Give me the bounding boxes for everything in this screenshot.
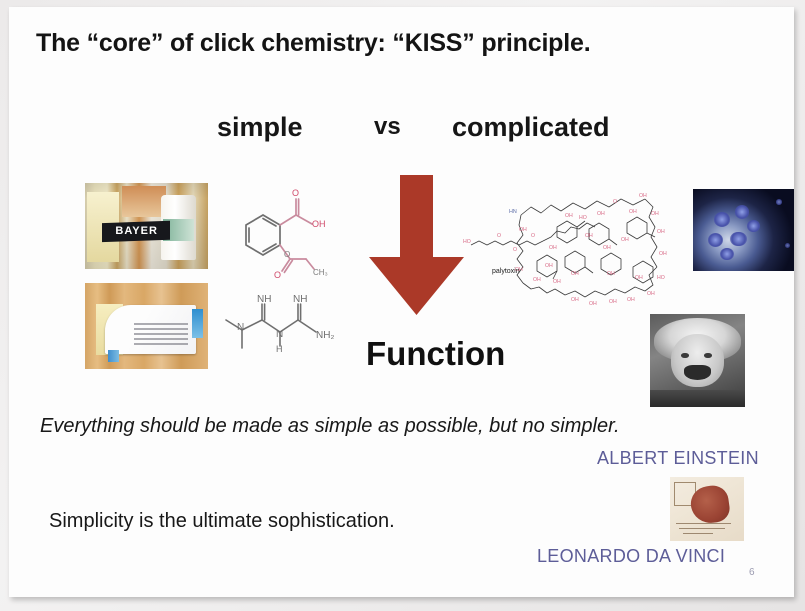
svg-text:HO: HO (579, 215, 587, 221)
svg-text:OH: OH (549, 245, 557, 251)
down-arrow (364, 175, 469, 320)
metformin-atom-NH-1: NH (257, 294, 271, 305)
metformin-atom-N-2: N (276, 329, 283, 340)
column-heading-vs: vs (374, 113, 401, 141)
svg-text:OH: OH (589, 301, 597, 307)
einstein-portrait-photo (650, 314, 745, 407)
svg-text:OH: OH (553, 279, 561, 285)
palytoxin-label: palytoxin (492, 268, 520, 275)
cell-nucleus (708, 233, 724, 247)
svg-text:OH: OH (571, 271, 579, 277)
slide-title: The “core” of click chemistry: “KISS” pr… (36, 29, 590, 58)
svg-text:OH: OH (647, 291, 655, 297)
cell-nucleus (720, 248, 734, 260)
quote-davinci-attribution: LEONARDO DA VINCI (537, 546, 725, 567)
svg-text:O: O (497, 233, 501, 239)
function-label: Function (366, 335, 505, 373)
einstein-eye-right (704, 353, 712, 358)
davinci-sketch-photo (670, 477, 744, 541)
davinci-sketch-line (683, 533, 713, 534)
davinci-sketch-line (676, 523, 731, 524)
slide-canvas: The “core” of click chemistry: “KISS” pr… (9, 7, 794, 597)
svg-text:OH: OH (565, 213, 573, 219)
cell-nucleus (785, 243, 790, 248)
davinci-sketch-line (679, 528, 725, 529)
quote-einstein-attribution: ALBERT EINSTEIN (597, 448, 759, 469)
aspirin-packaging-photo: BAYER (85, 183, 208, 269)
svg-text:OH: OH (657, 229, 665, 235)
einstein-eye-left (681, 353, 689, 358)
cell-nucleus (714, 212, 731, 227)
aspirin-structure: O OH O O CH₃ (228, 179, 328, 283)
einstein-mouth (684, 365, 711, 380)
cell-nucleus (735, 205, 750, 218)
metformin-atom-H: H (276, 344, 283, 354)
metformin-packaging-photo (85, 283, 208, 369)
svg-text:OH: OH (545, 263, 553, 269)
slide-outer-frame: The “core” of click chemistry: “KISS” pr… (0, 0, 805, 611)
svg-text:OH: OH (651, 211, 659, 217)
svg-text:OH: OH (627, 297, 635, 303)
svg-text:HO: HO (463, 239, 471, 245)
metformin-atom-NH2: NH₂ (316, 330, 334, 341)
svg-text:O: O (513, 247, 517, 253)
svg-text:OH: OH (621, 237, 629, 243)
quote-einstein-text: Everything should be made as simple as p… (40, 415, 620, 438)
svg-text:O: O (613, 199, 617, 205)
svg-text:OH: OH (635, 275, 643, 281)
metformin-structure: NH NH N N H NH₂ (218, 290, 340, 370)
column-heading-complicated: complicated (452, 112, 610, 143)
svg-text:OH: OH (571, 297, 579, 303)
aspirin-atom-CH3: CH₃ (313, 268, 328, 277)
aspirin-atom-O2: O (274, 270, 281, 280)
svg-text:O: O (531, 233, 535, 239)
svg-text:HO: HO (657, 275, 665, 281)
svg-text:OH: OH (603, 245, 611, 251)
svg-text:HN: HN (509, 209, 517, 215)
einstein-suit (650, 390, 745, 407)
svg-text:OH: OH (519, 227, 527, 233)
palytoxin-structure: HO O O O OH OH HO OH OH OH O OH OH OH OH… (461, 171, 707, 317)
cell-nucleus (747, 220, 759, 231)
svg-text:OH: OH (607, 271, 615, 277)
aspirin-atom-O: O (292, 188, 299, 198)
svg-text:OH: OH (629, 209, 637, 215)
aspirin-carton-top (122, 186, 166, 217)
cell-nucleus (730, 232, 747, 247)
aspirin-brand-text: BAYER (107, 223, 166, 240)
metformin-atom-NH-2: NH (293, 294, 307, 305)
svg-text:OH: OH (609, 299, 617, 305)
cell-micrograph-photo (693, 189, 794, 271)
slide-number: 6 (749, 567, 755, 578)
svg-text:OH: OH (533, 277, 541, 283)
aspirin-atom-OH: OH (312, 219, 326, 229)
cell-nucleus (776, 199, 782, 205)
metformin-box-text (134, 323, 188, 345)
column-heading-simple: simple (217, 112, 303, 143)
metformin-blue-stripe (192, 309, 203, 338)
quote-davinci-text: Simplicity is the ultimate sophisticatio… (49, 510, 395, 533)
metformin-atom-N-1: N (237, 322, 244, 333)
aspirin-atom-Oester: O (284, 250, 290, 259)
svg-text:OH: OH (659, 251, 667, 257)
svg-text:OH: OH (597, 211, 605, 217)
svg-text:OH: OH (639, 193, 647, 199)
svg-text:OH: OH (585, 233, 593, 239)
metformin-box-chip (108, 350, 119, 362)
